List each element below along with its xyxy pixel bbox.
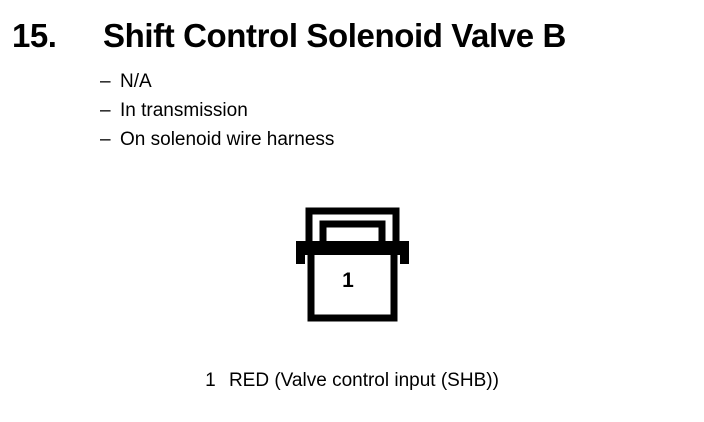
- cavity-number-label: 1: [342, 269, 354, 292]
- flange-right-shoulder: [400, 241, 409, 264]
- connector-outline-icon: 1: [290, 205, 415, 325]
- list-item-label: On solenoid wire harness: [120, 125, 334, 154]
- page-canvas: 15. Shift Control Solenoid Valve B – N/A…: [0, 0, 704, 422]
- page-title: Shift Control Solenoid Valve B: [103, 16, 566, 56]
- dash-bullet-icon: –: [100, 67, 120, 96]
- flange-left-shoulder: [296, 241, 305, 264]
- list-item-label: N/A: [120, 67, 152, 96]
- page-header: 15. Shift Control Solenoid Valve B: [0, 16, 704, 60]
- dash-bullet-icon: –: [100, 96, 120, 125]
- caption-pin-description: RED (Valve control input (SHB)): [229, 370, 499, 391]
- spec-list: – N/A – In transmission – On solenoid wi…: [100, 67, 520, 154]
- pin-caption: 1 RED (Valve control input (SHB)): [0, 368, 704, 394]
- lock-tab-inner-arch: [323, 224, 382, 243]
- caption-pin-number: 1: [205, 370, 216, 391]
- list-item-label: In transmission: [120, 96, 248, 125]
- list-item: – In transmission: [100, 96, 520, 125]
- list-item: – N/A: [100, 67, 520, 96]
- item-number: 15.: [12, 16, 56, 56]
- list-item: – On solenoid wire harness: [100, 125, 520, 154]
- dash-bullet-icon: –: [100, 125, 120, 154]
- connector-diagram: 1: [290, 205, 415, 325]
